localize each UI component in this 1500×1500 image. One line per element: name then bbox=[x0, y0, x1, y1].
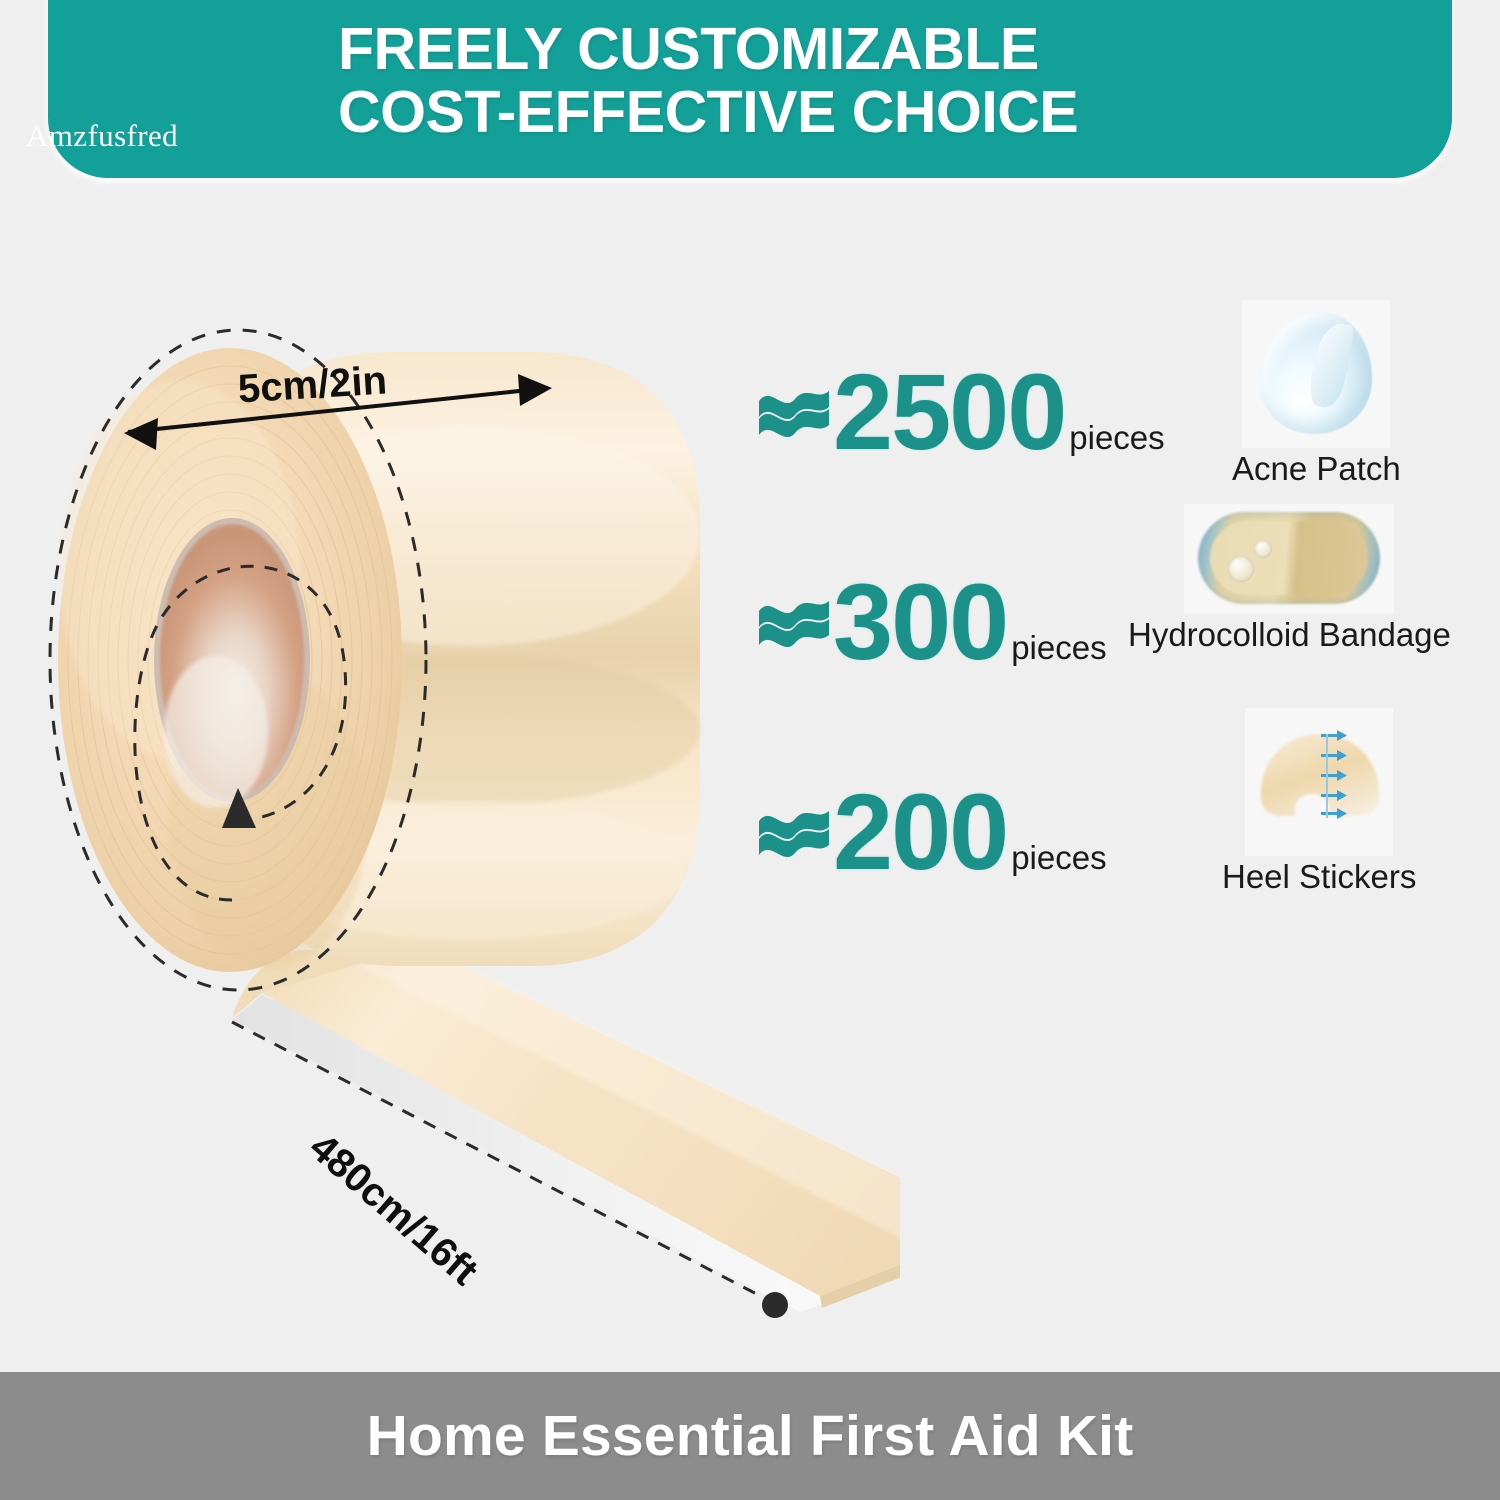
footer-banner: Home Essential First Aid Kit bbox=[0, 1372, 1500, 1500]
stat-value: 2500 bbox=[833, 358, 1065, 466]
page-title: FREELY CUSTOMIZABLE COST-EFFECTIVE CHOIC… bbox=[338, 18, 1078, 143]
stat-unit: pieces bbox=[1011, 839, 1106, 877]
header-banner: FREELY CUSTOMIZABLE COST-EFFECTIVE CHOIC… bbox=[48, 0, 1452, 178]
stat-unit: pieces bbox=[1011, 629, 1106, 667]
approximately-icon bbox=[755, 589, 833, 653]
product-label: Hydrocolloid Bandage bbox=[1128, 616, 1451, 654]
hydrocolloid-bandage-icon bbox=[1184, 504, 1394, 614]
product-item-hydrocolloid-bandage: Hydrocolloid Bandage bbox=[1128, 504, 1451, 654]
stat-unit: pieces bbox=[1069, 419, 1164, 457]
acne-patch-icon bbox=[1242, 300, 1390, 448]
arrow-marks-icon bbox=[1319, 730, 1349, 822]
stat-row: 200 pieces bbox=[755, 778, 1225, 988]
stat-value: 200 bbox=[833, 778, 1007, 886]
approximately-icon bbox=[755, 799, 833, 863]
brand-logo: Amzfusfred bbox=[26, 118, 178, 154]
stats-list: 2500 pieces 300 pieces 200 pieces bbox=[755, 358, 1225, 988]
product-label: Acne Patch bbox=[1232, 450, 1401, 488]
product-item-acne-patch: Acne Patch bbox=[1232, 300, 1401, 488]
product-label: Heel Stickers bbox=[1222, 858, 1416, 896]
heel-sticker-icon bbox=[1245, 708, 1393, 856]
product-item-heel-stickers: Heel Stickers bbox=[1222, 708, 1416, 896]
title-line-1: FREELY CUSTOMIZABLE bbox=[338, 18, 1078, 81]
footer-text: Home Essential First Aid Kit bbox=[367, 1403, 1134, 1469]
title-line-2: COST-EFFECTIVE CHOICE bbox=[338, 81, 1078, 144]
width-dimension-label: 5cm/2in bbox=[237, 358, 388, 412]
approximately-icon bbox=[755, 379, 833, 443]
stat-value: 300 bbox=[833, 568, 1007, 676]
